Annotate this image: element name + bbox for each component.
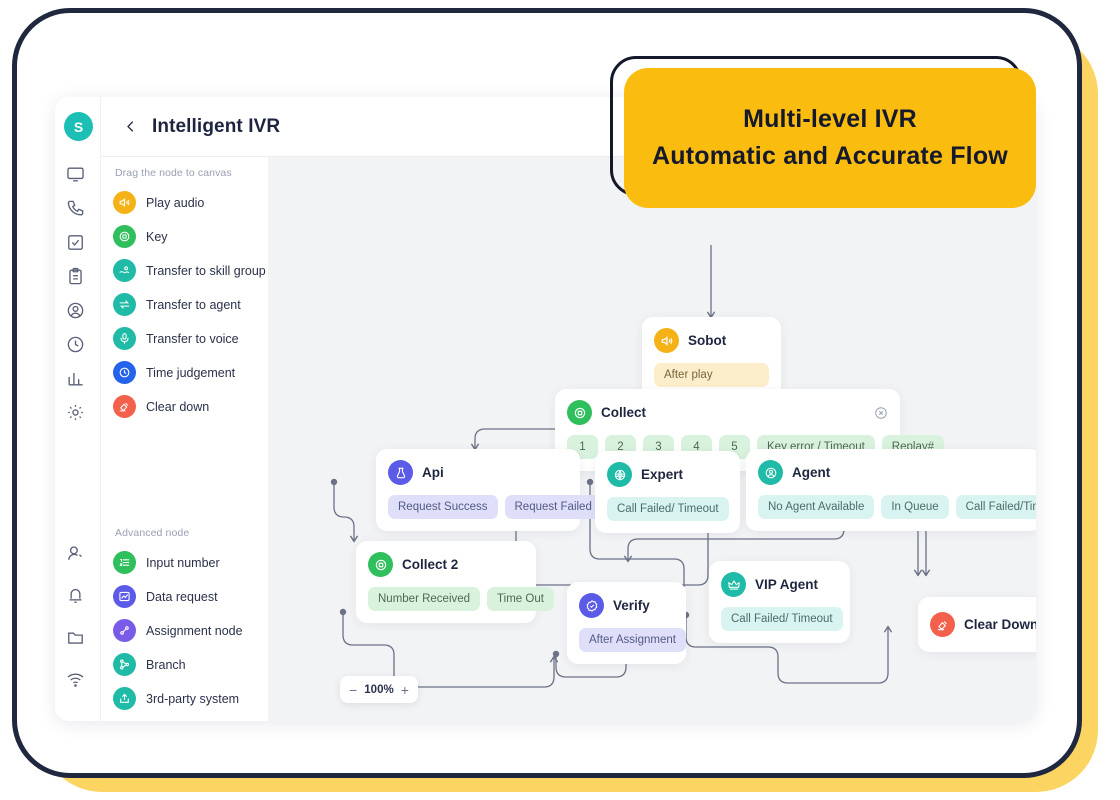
swap-icon — [113, 293, 136, 316]
palette-item-branch[interactable]: Branch — [113, 653, 186, 676]
user-search-icon[interactable] — [66, 544, 85, 563]
clock-icon — [113, 361, 136, 384]
page-title: Intelligent IVR — [152, 116, 280, 138]
api-icon — [388, 460, 413, 485]
crown-icon — [721, 572, 746, 597]
wifi-icon[interactable] — [66, 670, 85, 689]
node-port[interactable]: Request Success — [388, 495, 498, 519]
palette-item-input-number[interactable]: Input number — [113, 551, 220, 574]
node-port[interactable]: No Agent Available — [758, 495, 874, 519]
expert-icon — [607, 462, 632, 487]
palette-item-label: Branch — [146, 658, 186, 672]
branch-icon — [113, 653, 136, 676]
node-header: VIP Agent — [721, 572, 838, 597]
palette-item-transfer-to-skill-group[interactable]: Transfer to skill group — [113, 259, 266, 282]
keypad-icon — [368, 552, 393, 577]
node-ports: Call Failed/ Timeout — [721, 607, 838, 631]
node-ports: After play — [654, 363, 769, 387]
node-port[interactable]: In Queue — [881, 495, 948, 519]
gear-icon[interactable] — [66, 403, 85, 422]
zoom-level-value: 100% — [364, 684, 393, 696]
keypad-icon — [567, 400, 592, 425]
node-port[interactable]: Number Received — [368, 587, 480, 611]
palette-item-label: Time judgement — [146, 366, 235, 380]
monitor-icon[interactable] — [66, 165, 85, 184]
node-title: Verify — [613, 598, 650, 613]
palette-item-label: Data request — [146, 590, 218, 604]
assign-icon — [113, 619, 136, 642]
node-title: Collect 2 — [402, 557, 458, 572]
chevron-left-icon[interactable] — [123, 119, 138, 134]
verified-icon — [579, 593, 604, 618]
user-circle-icon[interactable] — [66, 301, 85, 320]
flow-node-api[interactable]: Api Request Success Request Failed — [376, 449, 580, 531]
folder-icon[interactable] — [66, 628, 85, 647]
palette-item-label: Assignment node — [146, 624, 243, 638]
bar-chart-icon[interactable] — [66, 369, 85, 388]
flow-node-agent[interactable]: Agent No Agent Available In Queue Call F… — [746, 449, 1036, 531]
node-ports: After Assignment — [579, 628, 674, 652]
node-port[interactable]: After play — [654, 363, 769, 387]
palette-item-key[interactable]: Key — [113, 225, 168, 248]
palette-item-label: Input number — [146, 556, 220, 570]
node-header: Clear Down — [930, 612, 1035, 637]
node-header: Verify — [579, 593, 674, 618]
handoff-icon — [113, 259, 136, 282]
node-ports: Number Received Time Out — [368, 587, 524, 611]
zoom-in-button[interactable]: + — [401, 683, 409, 697]
screenshot-stage: S — [0, 0, 1120, 800]
palette-item-label: Transfer to skill group — [146, 264, 266, 278]
palette-item-data-request[interactable]: Data request — [113, 585, 218, 608]
node-title: VIP Agent — [755, 577, 818, 592]
flow-node-verify[interactable]: Verify After Assignment — [567, 582, 686, 664]
hangup-icon — [930, 612, 955, 637]
zoom-out-button[interactable]: − — [349, 683, 357, 697]
palette-advanced-hint: Advanced node — [115, 527, 189, 539]
chart-line-icon — [113, 585, 136, 608]
node-header: Api — [388, 460, 568, 485]
node-header: Expert — [607, 462, 728, 487]
node-port[interactable]: Request Failed — [505, 495, 602, 519]
node-port[interactable]: After Assignment — [579, 628, 686, 652]
phone-icon[interactable] — [66, 199, 85, 218]
banner-line-1: Multi-level IVR — [743, 104, 917, 135]
node-title: Clear Down — [964, 617, 1036, 632]
palette-item-label: Transfer to voice — [146, 332, 239, 346]
node-ports: No Agent Available In Queue Call Failed/… — [758, 495, 1029, 519]
palette-item-transfer-to-voice[interactable]: Transfer to voice — [113, 327, 239, 350]
palette-item-clear-down[interactable]: Clear down — [113, 395, 209, 418]
flow-node-clear-down[interactable]: Clear Down — [918, 597, 1036, 652]
user-circle-icon — [758, 460, 783, 485]
node-port[interactable]: Call Failed/ Timeout — [607, 497, 729, 521]
speaker-icon — [654, 328, 679, 353]
node-title: Agent — [792, 465, 830, 480]
upload-box-icon — [113, 687, 136, 710]
node-palette: Drag the node to canvas Play audio Key T… — [101, 157, 268, 721]
node-title: Collect — [601, 405, 646, 420]
bell-icon[interactable] — [66, 586, 85, 605]
node-port[interactable]: Call Failed/Timeout — [956, 495, 1036, 519]
node-header: Agent — [758, 460, 1029, 485]
palette-item-label: 3rd-party system — [146, 692, 239, 706]
node-port[interactable]: Time Out — [487, 587, 554, 611]
flow-canvas[interactable]: Sobot After play Collect — [268, 157, 1036, 721]
banner-line-2: Automatic and Accurate Flow — [652, 141, 1008, 172]
node-port[interactable]: Call Failed/ Timeout — [721, 607, 843, 631]
flow-node-expert[interactable]: Expert Call Failed/ Timeout — [595, 451, 740, 533]
hangup-icon — [113, 395, 136, 418]
flow-node-vip-agent[interactable]: VIP Agent Call Failed/ Timeout — [709, 561, 850, 643]
palette-item-transfer-to-agent[interactable]: Transfer to agent — [113, 293, 241, 316]
palette-item-label: Play audio — [146, 196, 204, 210]
icon-rail: S — [55, 97, 101, 721]
node-title: Expert — [641, 467, 683, 482]
list-number-icon — [113, 551, 136, 574]
flow-node-collect-2[interactable]: Collect 2 Number Received Time Out — [356, 541, 536, 623]
node-title: Sobot — [688, 333, 726, 348]
palette-item-label: Transfer to agent — [146, 298, 241, 312]
flow-node-sobot[interactable]: Sobot After play — [642, 317, 781, 399]
palette-item-play-audio[interactable]: Play audio — [113, 191, 204, 214]
palette-item-assignment-node[interactable]: Assignment node — [113, 619, 243, 642]
callout-banner: Multi-level IVR Automatic and Accurate F… — [624, 68, 1036, 208]
brand-avatar[interactable]: S — [64, 112, 93, 141]
clipboard-icon[interactable] — [66, 267, 85, 286]
speaker-icon — [113, 191, 136, 214]
microphone-icon — [113, 327, 136, 350]
zoom-control[interactable]: − 100% + — [340, 676, 418, 703]
palette-hint: Drag the node to canvas — [115, 167, 232, 179]
palette-item-time-judgement[interactable]: Time judgement — [113, 361, 235, 384]
keypad-icon — [113, 225, 136, 248]
clock-icon[interactable] — [66, 335, 85, 354]
palette-item-label: Key — [146, 230, 168, 244]
node-header: Collect — [567, 400, 888, 425]
close-circle-icon[interactable] — [874, 406, 888, 420]
palette-item-label: Clear down — [146, 400, 209, 414]
node-title: Api — [422, 465, 444, 480]
node-ports: Request Success Request Failed — [388, 495, 568, 519]
node-header: Sobot — [654, 328, 769, 353]
node-header: Collect 2 — [368, 552, 524, 577]
node-ports: Call Failed/ Timeout — [607, 497, 728, 521]
checkbox-icon[interactable] — [66, 233, 85, 252]
palette-item-3rd-party-system[interactable]: 3rd-party system — [113, 687, 239, 710]
